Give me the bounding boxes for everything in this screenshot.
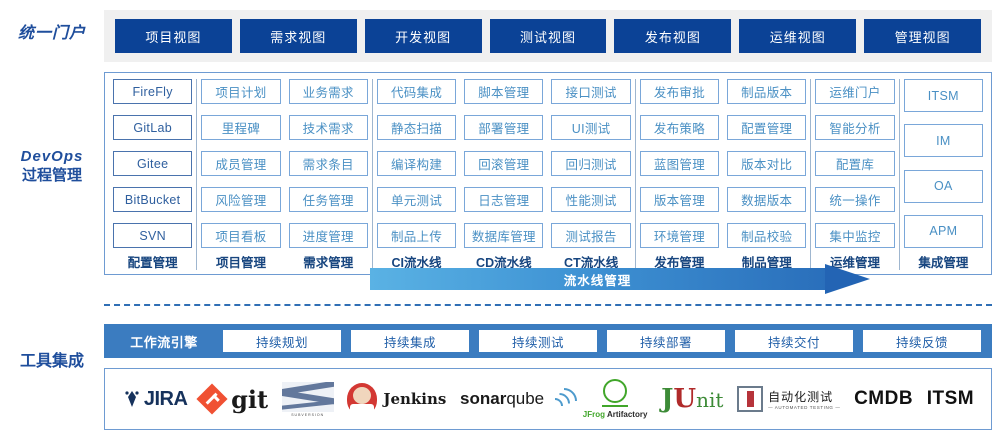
devops-column: 项目计划里程碑成员管理风险管理项目看板项目管理 <box>197 79 284 270</box>
devops-cell[interactable]: 配置库 <box>815 151 894 176</box>
devops-cell[interactable]: 数据版本 <box>727 187 806 212</box>
devops-cell[interactable]: 回归测试 <box>551 151 630 176</box>
devops-cell[interactable]: FireFly <box>113 79 192 104</box>
devops-cell[interactable]: 任务管理 <box>289 187 368 212</box>
devops-cell[interactable]: 版本管理 <box>640 187 719 212</box>
diagram-root: 统一门户 DevOps 过程管理 工具集成 项目视图需求视图开发视图测试视图发布… <box>0 0 1000 439</box>
workflow-engine-bar: 工作流引擎持续规划持续集成持续测试持续部署持续交付持续反馈 <box>104 324 992 358</box>
rail-devops-line2: 过程管理 <box>0 167 104 186</box>
workflow-stage[interactable]: 持续测试 <box>479 330 597 352</box>
devops-column: 发布审批发布策略蓝图管理版本管理环境管理发布管理 <box>636 79 723 270</box>
automated-testing-icon <box>737 386 763 412</box>
portal-view-button[interactable]: 开发视图 <box>365 19 482 53</box>
pipeline-arrow-label: 流水线管理 <box>564 270 632 289</box>
rail-tools-text: 工具集成 <box>20 353 84 370</box>
devops-column-cells: 运维门户智能分析配置库统一操作集中监控 <box>815 79 894 248</box>
portal-view-button[interactable]: 运维视图 <box>739 19 856 53</box>
devops-column-title: 需求管理 <box>289 253 368 270</box>
devops-cell[interactable]: 回滚管理 <box>464 151 543 176</box>
itsm-logo: ITSM <box>927 378 974 420</box>
jira-icon <box>122 389 142 409</box>
jira-logo: JIRA <box>122 378 188 420</box>
sonarqube-icon <box>547 390 569 408</box>
pipeline-arrow: 流水线管理 <box>370 268 870 290</box>
devops-cell[interactable]: 业务需求 <box>289 79 368 104</box>
workflow-stage[interactable]: 持续交付 <box>735 330 853 352</box>
devops-column-title: 集成管理 <box>904 253 983 270</box>
devops-cell[interactable]: 数据库管理 <box>464 223 543 248</box>
devops-cell[interactable]: 接口测试 <box>551 79 630 104</box>
devops-cell[interactable]: 版本对比 <box>727 151 806 176</box>
rail-portal-text: 统一门户 <box>18 25 86 42</box>
devops-cell[interactable]: 发布审批 <box>640 79 719 104</box>
rail-label-portal: 统一门户 <box>6 24 98 44</box>
devops-cell[interactable]: 运维门户 <box>815 79 894 104</box>
devops-cell[interactable]: 发布策略 <box>640 115 719 140</box>
devops-cell[interactable]: 项目看板 <box>201 223 280 248</box>
workflow-stage[interactable]: 持续反馈 <box>863 330 981 352</box>
rail-devops-line1: DevOps <box>0 148 104 167</box>
pipeline-arrow-body: 流水线管理 <box>370 268 825 290</box>
devops-column-cells: FireFlyGitLabGiteeBitBucketSVN <box>113 79 192 248</box>
devops-column: FireFlyGitLabGiteeBitBucketSVN配置管理 <box>109 79 197 270</box>
junit-logo: JUnit <box>661 378 723 420</box>
devops-cell[interactable]: 风险管理 <box>201 187 280 212</box>
junit-u: U <box>673 384 696 414</box>
devops-column-cells: 业务需求技术需求需求条目任务管理进度管理 <box>289 79 368 248</box>
devops-cell[interactable]: 进度管理 <box>289 223 368 248</box>
devops-cell[interactable]: 单元测试 <box>377 187 456 212</box>
subversion-icon <box>282 382 334 412</box>
tool-logo-strip: JIRAgitSUBVERSIONJenkinssonarqubeJFrog A… <box>104 368 992 430</box>
workflow-stage[interactable]: 持续部署 <box>607 330 725 352</box>
devops-cell[interactable]: 制品上传 <box>377 223 456 248</box>
sonarqube-text-light: qube <box>506 389 544 408</box>
devops-column-cells: 接口测试UI测试回归测试性能测试测试报告 <box>551 79 630 248</box>
devops-cell[interactable]: ITSM <box>904 79 983 112</box>
devops-cell[interactable]: 蓝图管理 <box>640 151 719 176</box>
devops-column-cells: ITSMIMOAAPM <box>904 79 983 248</box>
devops-column-cells: 项目计划里程碑成员管理风险管理项目看板 <box>201 79 280 248</box>
workflow-stage[interactable]: 持续规划 <box>223 330 341 352</box>
itsm-text: ITSM <box>927 388 974 410</box>
devops-column-cells: 制品版本配置管理版本对比数据版本制品校验 <box>727 79 806 248</box>
devops-cell[interactable]: 配置管理 <box>727 115 806 140</box>
devops-cell[interactable]: 成员管理 <box>201 151 280 176</box>
devops-column: 脚本管理部署管理回滚管理日志管理数据库管理CD流水线 <box>460 79 547 270</box>
subversion-logo: SUBVERSION <box>282 378 334 420</box>
devops-cell[interactable]: 智能分析 <box>815 115 894 140</box>
automated-testing-logo: 自动化测试— AUTOMATED TESTING — <box>737 378 840 420</box>
devops-cell[interactable]: 项目计划 <box>201 79 280 104</box>
section-divider <box>104 304 992 306</box>
jfrog-text-rest: Artifactory <box>605 410 647 419</box>
devops-column: 制品版本配置管理版本对比数据版本制品校验制品管理 <box>723 79 811 270</box>
junit-j: J <box>661 384 673 414</box>
portal-view-button[interactable]: 发布视图 <box>614 19 731 53</box>
jfrog-artifactory-logo: JFrog Artifactory <box>583 378 648 420</box>
rail-label-devops: DevOps 过程管理 <box>0 148 104 186</box>
devops-column: 代码集成静态扫描编译构建单元测试制品上传CI流水线 <box>373 79 460 270</box>
sonarqube-text-bold: sonar <box>460 389 506 408</box>
devops-cell[interactable]: SVN <box>113 223 192 248</box>
jenkins-text: Jenkins <box>383 390 446 408</box>
devops-cell[interactable]: 集中监控 <box>815 223 894 248</box>
workflow-stage[interactable]: 持续集成 <box>351 330 469 352</box>
devops-cell[interactable]: 编译构建 <box>377 151 456 176</box>
devops-cell[interactable]: Gitee <box>113 151 192 176</box>
git-text: git <box>231 385 268 414</box>
devops-cell[interactable]: 环境管理 <box>640 223 719 248</box>
rail-label-tools: 工具集成 <box>6 352 98 372</box>
cmdb-logo: CMDB <box>854 378 913 420</box>
git-icon <box>197 383 228 414</box>
portal-view-button[interactable]: 需求视图 <box>240 19 357 53</box>
devops-cell[interactable]: 制品校验 <box>727 223 806 248</box>
devops-cell[interactable]: OA <box>904 170 983 203</box>
devops-cell[interactable]: 代码集成 <box>377 79 456 104</box>
devops-cell[interactable]: 日志管理 <box>464 187 543 212</box>
junit-rest: nit <box>696 388 723 412</box>
pipeline-arrow-head <box>825 264 870 294</box>
workflow-engine-label: 工作流引擎 <box>110 332 218 351</box>
devops-process-panel: FireFlyGitLabGiteeBitBucketSVN配置管理项目计划里程… <box>104 72 992 275</box>
devops-column: ITSMIMOAAPM集成管理 <box>900 79 987 270</box>
jira-text: JIRA <box>144 388 188 411</box>
devops-column-title: 配置管理 <box>113 253 192 270</box>
portal-view-button[interactable]: 管理视图 <box>864 19 981 53</box>
devops-column-cells: 脚本管理部署管理回滚管理日志管理数据库管理 <box>464 79 543 248</box>
devops-cell[interactable]: UI测试 <box>551 115 630 140</box>
jenkins-icon <box>347 383 377 415</box>
devops-cell[interactable]: 脚本管理 <box>464 79 543 104</box>
devops-cell[interactable]: IM <box>904 124 983 157</box>
automated-testing-en: — AUTOMATED TESTING — <box>768 405 840 410</box>
jfrog-icon <box>603 379 627 403</box>
automated-testing-cn: 自动化测试 <box>768 388 840 405</box>
devops-cell[interactable]: 测试报告 <box>551 223 630 248</box>
devops-cell[interactable]: APM <box>904 215 983 248</box>
portal-view-button[interactable]: 测试视图 <box>490 19 607 53</box>
git-logo: git <box>201 378 268 420</box>
devops-cell[interactable]: GitLab <box>113 115 192 140</box>
devops-column-cells: 代码集成静态扫描编译构建单元测试制品上传 <box>377 79 456 248</box>
jfrog-text-accent: JFrog <box>583 410 605 419</box>
devops-column-cells: 发布审批发布策略蓝图管理版本管理环境管理 <box>640 79 719 248</box>
devops-cell[interactable]: BitBucket <box>113 187 192 212</box>
devops-cell[interactable]: 静态扫描 <box>377 115 456 140</box>
devops-cell[interactable]: 统一操作 <box>815 187 894 212</box>
devops-column: 运维门户智能分析配置库统一操作集中监控运维管理 <box>811 79 899 270</box>
jenkins-logo: Jenkins <box>347 378 446 420</box>
devops-column: 业务需求技术需求需求条目任务管理进度管理需求管理 <box>285 79 373 270</box>
portal-view-button[interactable]: 项目视图 <box>115 19 232 53</box>
devops-cell[interactable]: 里程碑 <box>201 115 280 140</box>
sonarqube-logo: sonarqube <box>460 378 569 420</box>
subversion-text: SUBVERSION <box>291 413 324 417</box>
portal-view-bar: 项目视图需求视图开发视图测试视图发布视图运维视图管理视图 <box>104 10 992 62</box>
devops-column: 接口测试UI测试回归测试性能测试测试报告CT流水线 <box>547 79 635 270</box>
cmdb-text: CMDB <box>854 388 913 410</box>
devops-cell[interactable]: 部署管理 <box>464 115 543 140</box>
devops-column-title: 项目管理 <box>201 253 280 270</box>
devops-cell[interactable]: 制品版本 <box>727 79 806 104</box>
devops-cell[interactable]: 性能测试 <box>551 187 630 212</box>
devops-cell[interactable]: 技术需求 <box>289 115 368 140</box>
devops-cell[interactable]: 需求条目 <box>289 151 368 176</box>
